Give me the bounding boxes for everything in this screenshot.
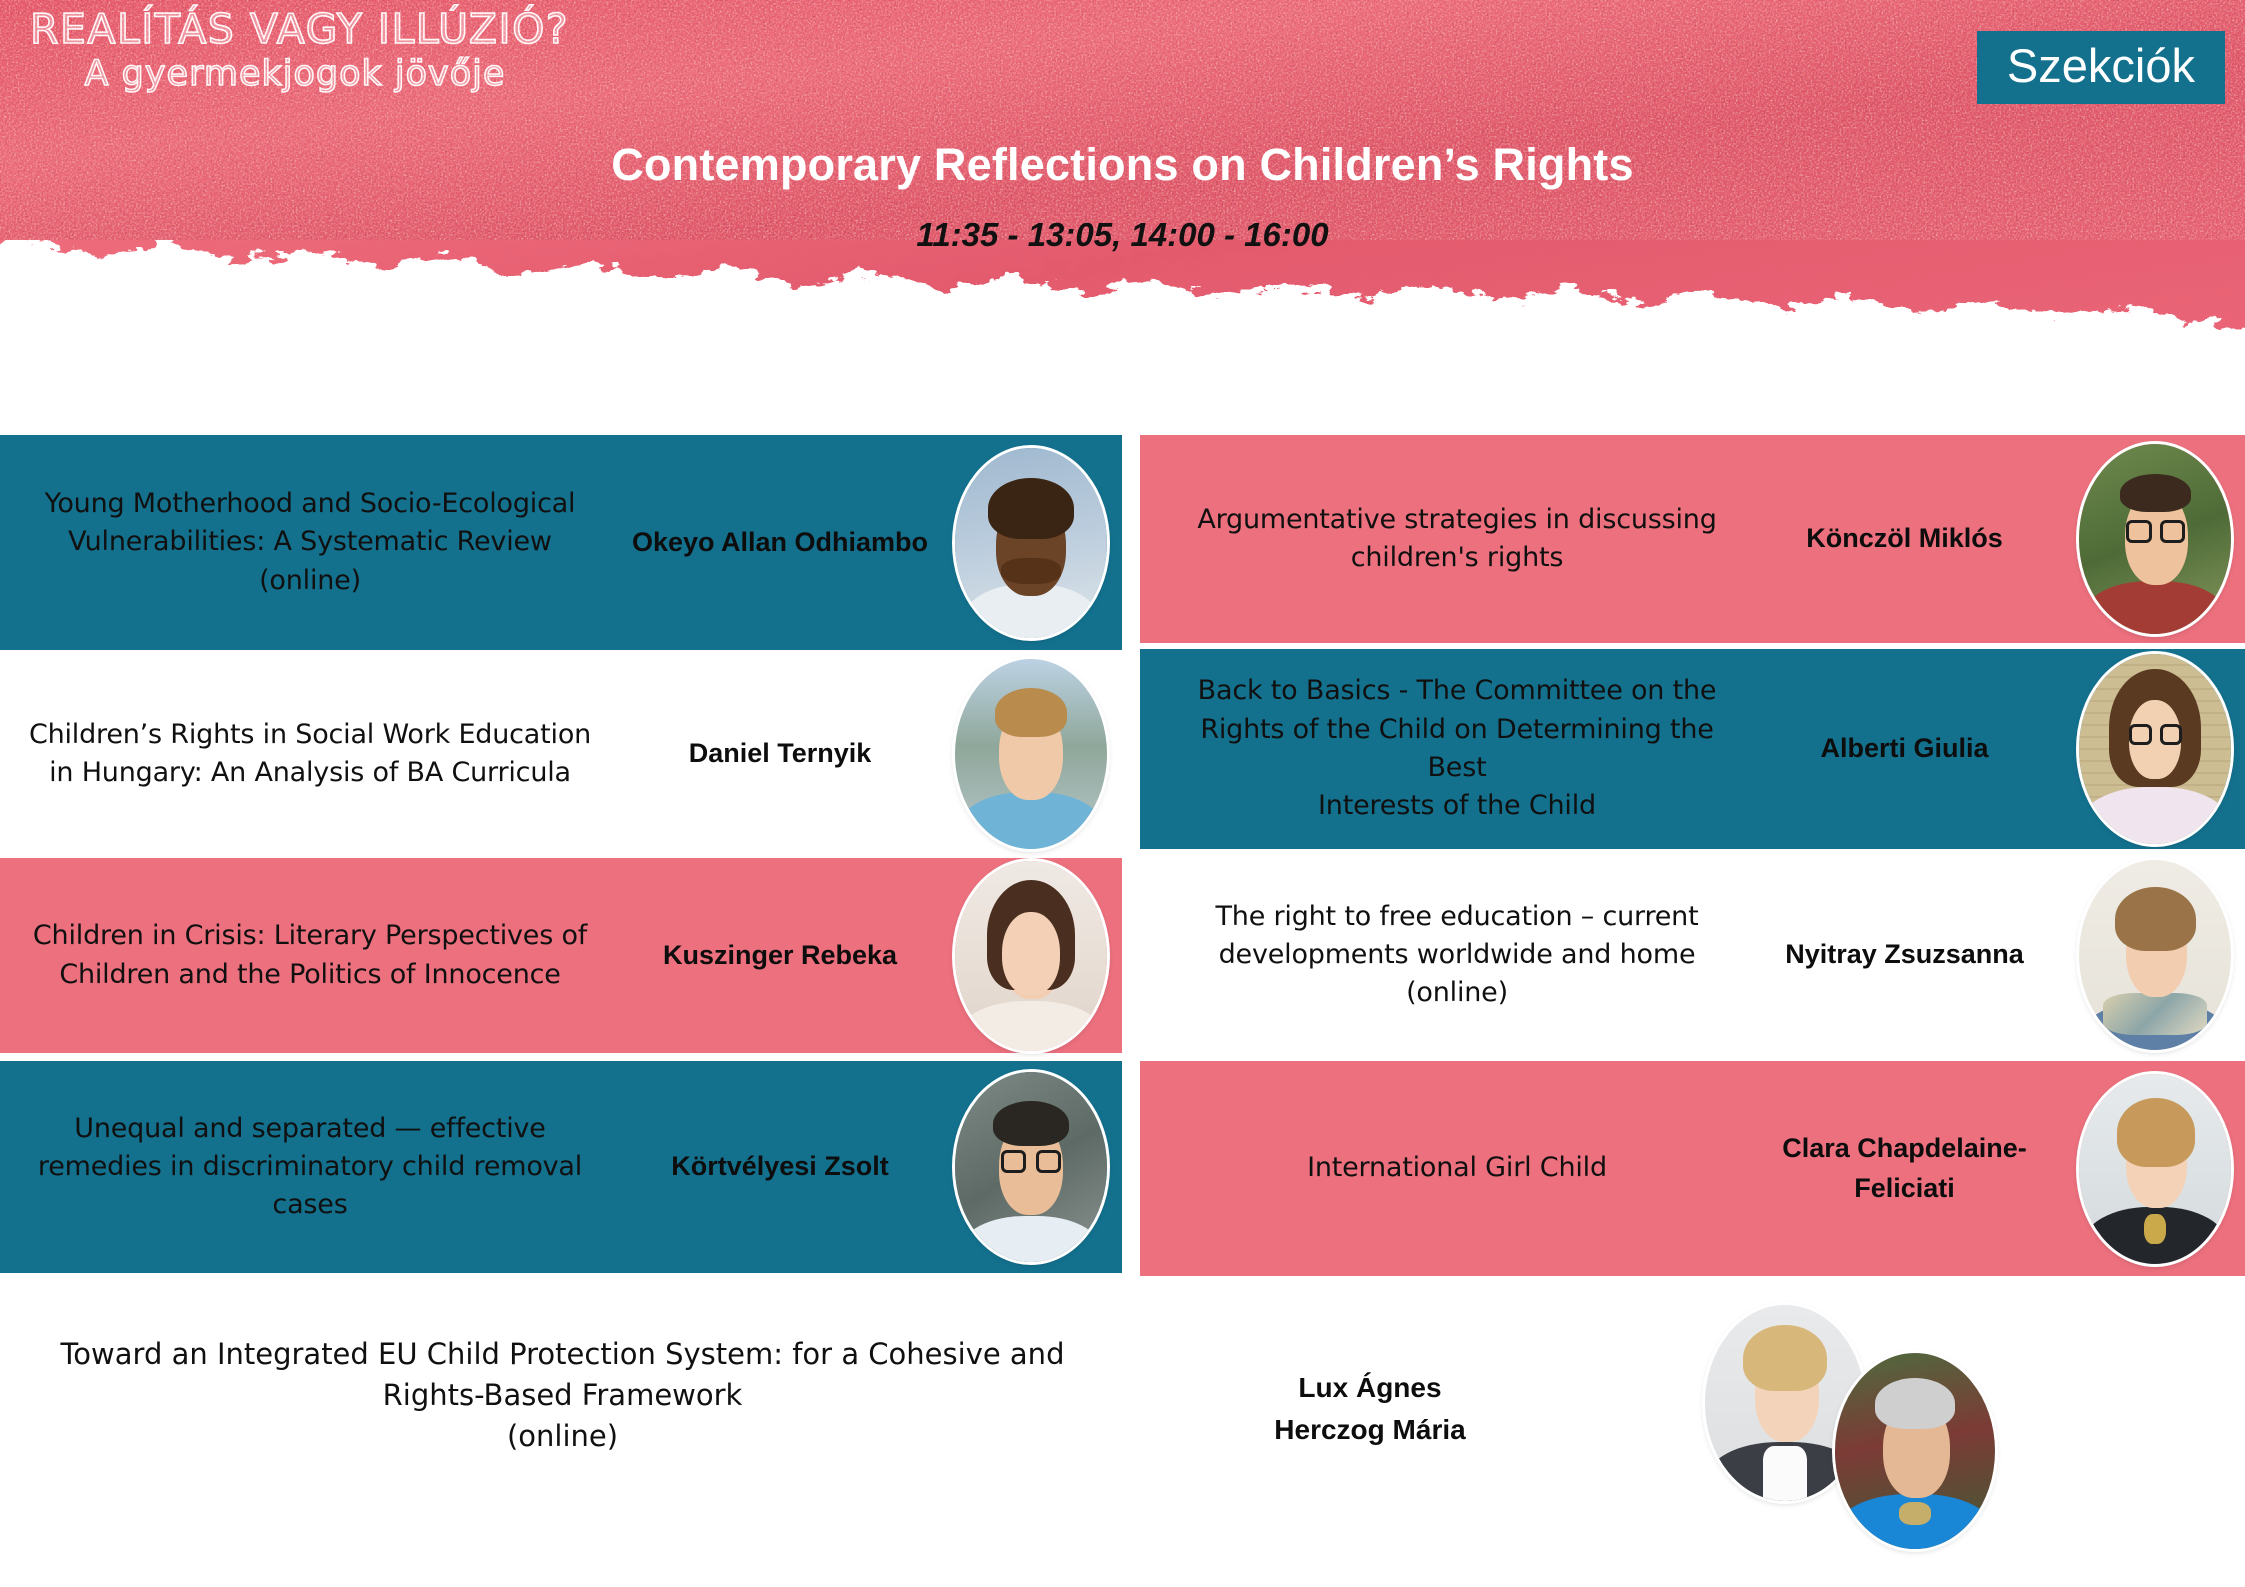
session-card[interactable]: Children in Crisis: Literary Perspective… [0, 858, 1122, 1053]
session-title: Argumentative strategies in discussing c… [1170, 501, 1744, 578]
avatar-slot [2065, 1074, 2245, 1264]
session-title: Children’s Rights in Social Work Educati… [0, 716, 620, 793]
session-card[interactable]: International Girl Child Clara Chapdelai… [1140, 1061, 2245, 1276]
session-title: Young Motherhood and Socio-Ecological Vu… [0, 485, 620, 600]
speaker-avatar [2079, 444, 2231, 634]
sessions-column-left: Young Motherhood and Socio-Ecological Vu… [0, 435, 1122, 1273]
speaker-avatar [1835, 1353, 1995, 1549]
conference-program-slide: REALÍTÁS VAGY ILLÚZIÓ? A gyermekjogok jö… [0, 0, 2245, 1587]
session-card[interactable]: Unequal and separated — effective remedi… [0, 1061, 1122, 1273]
speaker-avatar [955, 448, 1107, 638]
session-speaker: Okeyo Allan Odhiambo [620, 523, 940, 562]
speaker-avatar [2079, 1074, 2231, 1264]
session-title: International Girl Child [1170, 1149, 1744, 1187]
session-card[interactable]: Back to Basics - The Committee on the Ri… [1140, 649, 2245, 849]
session-title: Unequal and separated — effective remedi… [0, 1110, 620, 1225]
session-card[interactable]: Children’s Rights in Social Work Educati… [0, 658, 1122, 850]
session-card[interactable]: The right to free education – current de… [1140, 855, 2245, 1055]
session-speaker: Nyitray Zsuzsanna [1744, 935, 2065, 974]
sessions-column-right: Argumentative strategies in discussing c… [1140, 435, 2245, 1276]
avatar-group [1705, 1305, 2105, 1545]
speaker-avatar [955, 861, 1107, 1051]
torn-paper-banner-shape [0, 0, 2245, 420]
sections-badge[interactable]: Szekciók [1977, 31, 2225, 104]
session-time-range: 11:35 - 13:05, 14:00 - 16:00 [0, 216, 2245, 254]
avatar-slot [940, 1072, 1122, 1262]
speaker-avatar [2079, 860, 2231, 1050]
session-title: Toward an Integrated EU Child Protection… [20, 1334, 1105, 1458]
page-title: Contemporary Reflections on Children’s R… [0, 139, 2245, 191]
session-speaker: Körtvélyesi Zsolt [620, 1147, 940, 1186]
session-card[interactable]: Young Motherhood and Socio-Ecological Vu… [0, 435, 1122, 650]
speaker-avatar [2079, 654, 2231, 844]
row-gap [0, 650, 1122, 658]
session-title: Children in Crisis: Literary Perspective… [0, 917, 620, 994]
session-title: The right to free education – current de… [1170, 898, 1744, 1013]
avatar-slot [2065, 444, 2245, 634]
avatar-slot [940, 659, 1122, 849]
session-speaker: Kuszinger Rebeka [620, 936, 940, 975]
header-banner: REALÍTÁS VAGY ILLÚZIÓ? A gyermekjogok jö… [0, 0, 2245, 420]
session-title: Back to Basics - The Committee on the Ri… [1170, 672, 1744, 825]
session-speaker: Clara Chapdelaine-Feliciati [1744, 1129, 2065, 1207]
session-speaker: Alberti Giulia [1744, 729, 2065, 768]
speaker-avatar [955, 1072, 1107, 1262]
row-gap [0, 850, 1122, 858]
avatar-slot [940, 861, 1122, 1051]
session-card[interactable]: Argumentative strategies in discussing c… [1140, 435, 2245, 643]
avatar-slot [2065, 654, 2245, 844]
session-card-footer[interactable]: Toward an Integrated EU Child Protection… [0, 1290, 2245, 1587]
avatar-slot [2065, 860, 2245, 1050]
row-gap [0, 1053, 1122, 1061]
avatar-slot [940, 448, 1122, 638]
session-speaker: Könczöl Miklós [1744, 519, 2065, 558]
speaker-avatar [955, 659, 1107, 849]
session-speaker: Daniel Ternyik [620, 734, 940, 773]
session-speakers: Lux Ágnes Herczog Mária [1190, 1367, 1550, 1451]
